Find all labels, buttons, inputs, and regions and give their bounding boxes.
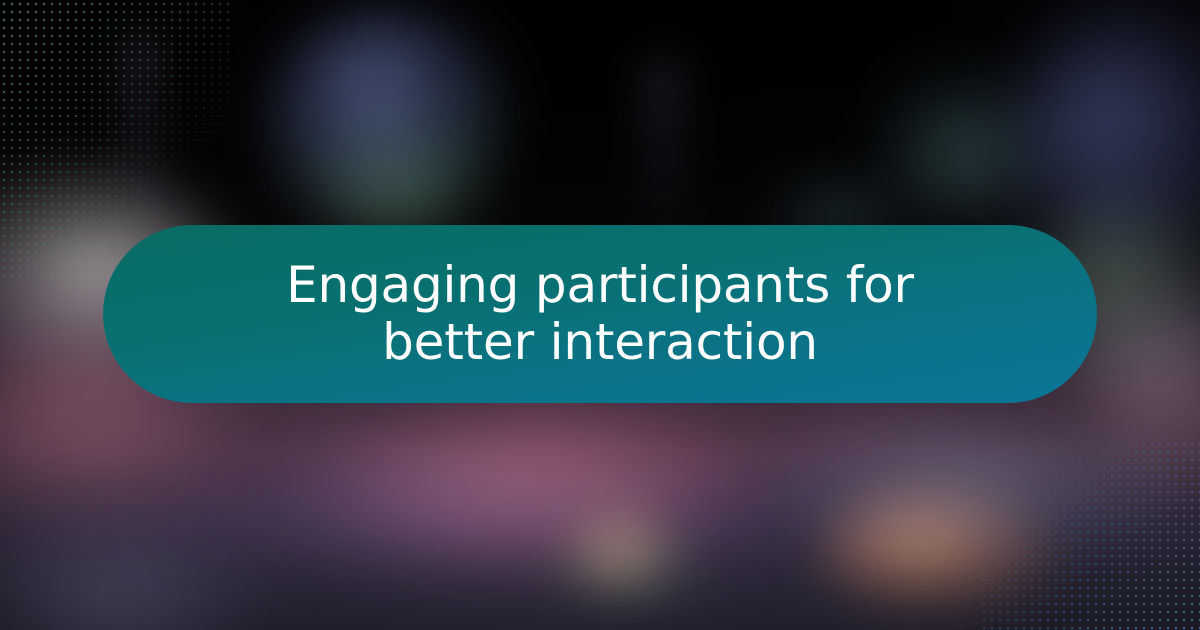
background-blur-shape [640, 60, 686, 250]
title-pill: Engaging participants for better interac… [103, 225, 1097, 403]
background-blur-shape [540, 520, 710, 610]
page-title: Engaging participants for better interac… [286, 257, 914, 372]
banner-card: Engaging participants for better interac… [0, 0, 1200, 630]
background-blur-shape [820, 490, 1050, 610]
